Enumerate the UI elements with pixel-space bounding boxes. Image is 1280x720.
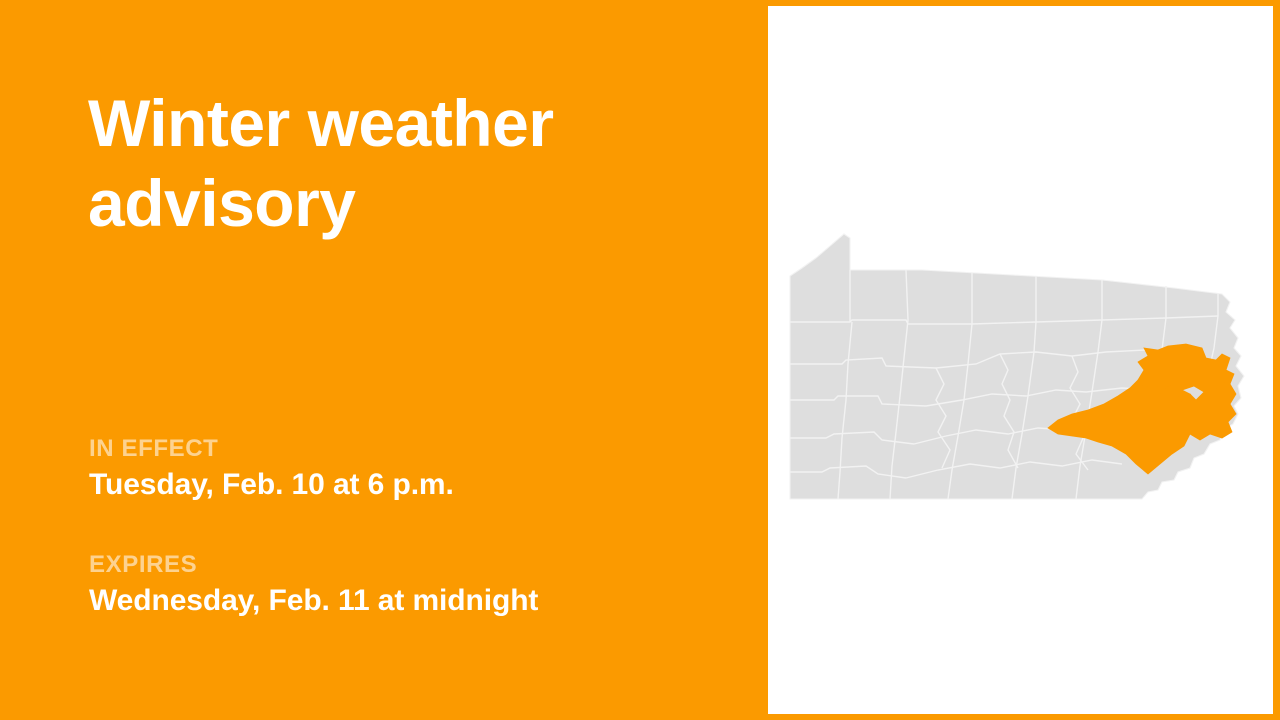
in-effect-label: IN EFFECT	[89, 436, 729, 462]
expires-block: EXPIRES Wednesday, Feb. 11 at midnight	[89, 552, 729, 619]
map-panel	[767, 0, 1280, 720]
page-title: Winter weather advisory	[88, 84, 708, 244]
pennsylvania-map-icon	[786, 224, 1256, 514]
in-effect-block: IN EFFECT Tuesday, Feb. 10 at 6 p.m.	[89, 436, 729, 503]
alert-text-panel: Winter weather advisory IN EFFECT Tuesda…	[0, 0, 767, 720]
map-panel-inner	[768, 6, 1273, 714]
map-container	[768, 6, 1273, 714]
in-effect-value: Tuesday, Feb. 10 at 6 p.m.	[89, 468, 729, 503]
expires-value: Wednesday, Feb. 11 at midnight	[89, 584, 729, 619]
expires-label: EXPIRES	[89, 552, 729, 578]
weather-alert-graphic: Winter weather advisory IN EFFECT Tuesda…	[0, 0, 1280, 720]
